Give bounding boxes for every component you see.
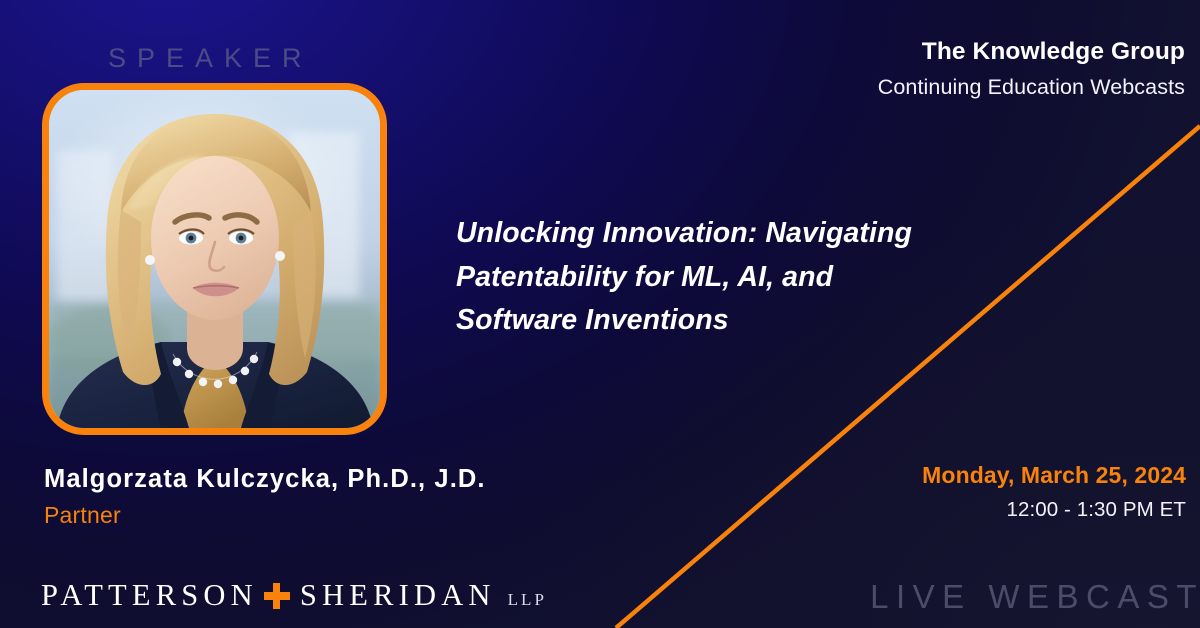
webinar-date: Monday, March 25, 2024 [922,462,1186,489]
speaker-photo [49,90,380,428]
speaker-info: Malgorzata Kulczycka, Ph.D., J.D. Partne… [44,465,486,529]
brand-header: The Knowledge Group Continuing Education… [878,38,1185,100]
live-webcast-watermark-label: LIVE WEBCAST [870,578,1200,616]
webinar-time: 12:00 - 1:30 PM ET [922,498,1186,522]
webinar-title-line-3: Software Inventions [456,299,1016,343]
brand-name: The Knowledge Group [878,38,1185,66]
firm-logo-word-patterson: PATTERSON [41,578,258,613]
webinar-schedule: Monday, March 25, 2024 12:00 - 1:30 PM E… [922,462,1186,522]
firm-logo-word-sheridan: SHERIDAN [300,578,496,613]
speaker-role: Partner [44,502,486,529]
webinar-title-line-1: Unlocking Innovation: Navigating [456,212,1016,256]
speaker-name: Malgorzata Kulczycka, Ph.D., J.D. [44,465,486,494]
speaker-photo-frame [42,83,387,435]
firm-logo-suffix-llp: LLP [508,590,547,613]
plus-sign-icon [260,581,294,611]
webinar-title: Unlocking Innovation: Navigating Patenta… [456,212,1016,343]
firm-logo: PATTERSON SHERIDAN LLP [41,578,547,613]
webinar-promo-poster: SPEAKER LIVE WEBCAST The Knowledge Group… [0,0,1200,628]
brand-subtitle: Continuing Education Webcasts [878,75,1185,100]
speaker-watermark-label: SPEAKER [108,43,313,74]
webinar-title-line-2: Patentability for ML, AI, and [456,256,1016,300]
